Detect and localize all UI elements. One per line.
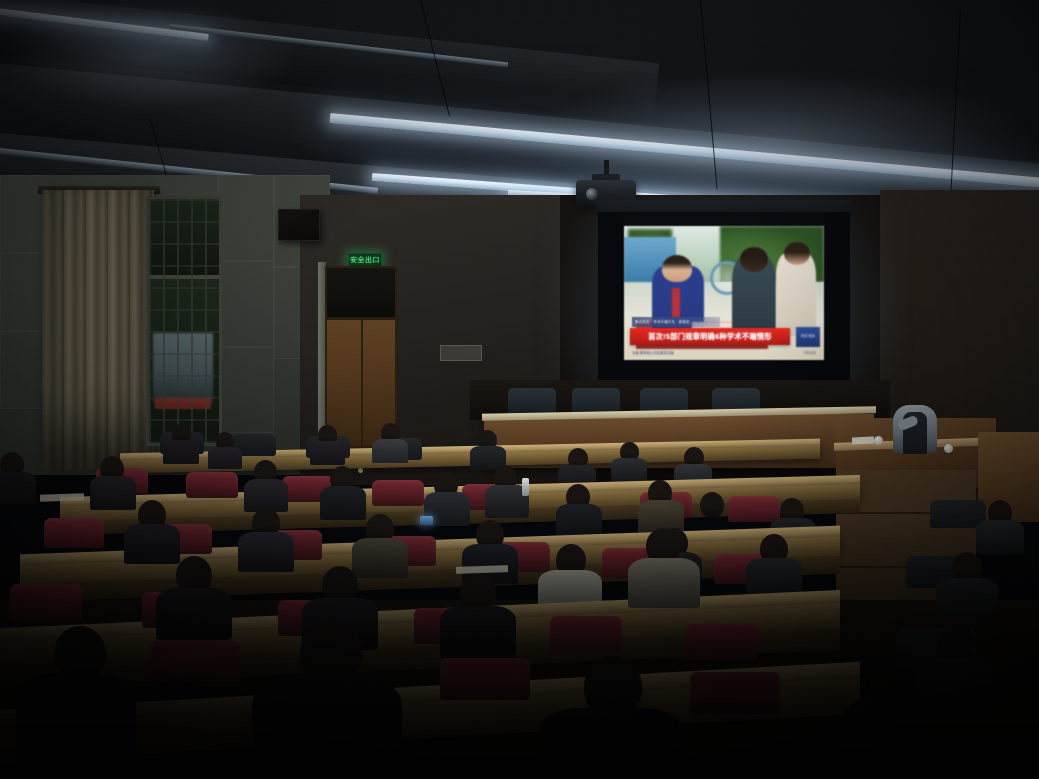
podium-papers	[852, 436, 874, 444]
seat[interactable]	[728, 496, 780, 522]
seat[interactable]	[690, 672, 780, 714]
water-bottle[interactable]	[522, 478, 529, 496]
broadcast-channel-logo: 新闻 频道	[796, 327, 820, 347]
broadcast-tag-3: 新规定	[679, 319, 690, 324]
seat[interactable]	[550, 616, 622, 652]
broadcast-lanyard	[672, 288, 680, 317]
broadcast-person-right	[776, 253, 816, 336]
door-transom-window	[327, 268, 395, 320]
broadcast-image: 焦点关注 学术不端行为 新规定 首次!5部门规章明确6种学术不端情形 新闻 频道…	[624, 226, 824, 360]
broadcast-ticker-left: 记者 教育部公开征集意见稿	[632, 350, 674, 355]
broadcast-person-right-head	[784, 242, 810, 265]
broadcast-ticker: 记者 教育部公开征集意见稿 7月24日	[630, 347, 818, 359]
window-curtain[interactable]	[42, 190, 154, 470]
broadcast-person-blue-shirt-head	[662, 255, 692, 282]
seat[interactable]	[372, 480, 424, 506]
phone-screen[interactable]	[420, 516, 433, 525]
seat[interactable]	[686, 624, 758, 660]
seat[interactable]	[440, 658, 530, 700]
broadcast-ticker-right: 7月24日	[804, 350, 816, 355]
broadcast-headline-banner: 首次!5部门规章明确6种学术不端情形	[630, 328, 790, 345]
broadcast-person-center-head	[740, 247, 768, 271]
wall-plaque	[440, 345, 482, 361]
podium-cup-1	[874, 436, 883, 445]
broadcast-subtitle-tags: 焦点关注 学术不端行为 新规定	[632, 317, 720, 326]
projector-lens-icon	[586, 188, 598, 200]
broadcast-channel-logo-text: 新闻 频道	[801, 335, 815, 339]
seat[interactable]	[186, 472, 238, 498]
window	[146, 196, 222, 446]
broadcast-tag-2: 学术不端行为	[653, 319, 675, 324]
seat[interactable]	[10, 584, 82, 620]
exit-door[interactable]	[325, 266, 397, 448]
lecture-hall-photo: 安全出口	[0, 0, 1039, 779]
podium-cup-2	[944, 444, 953, 453]
seat[interactable]	[44, 518, 104, 548]
wall-speaker	[278, 209, 320, 241]
door-center-split	[361, 320, 363, 446]
presenter-head	[902, 388, 924, 412]
exit-sign-label: 安全出口	[350, 255, 380, 265]
seat[interactable]	[150, 640, 240, 682]
broadcast-tag-1: 焦点关注	[635, 319, 649, 324]
window-security-bars	[149, 199, 219, 443]
projection-screen: 焦点关注 学术不端行为 新规定 首次!5部门规章明确6种学术不端情形 新闻 频道…	[598, 212, 850, 388]
screen-masking-top	[598, 212, 850, 226]
exit-sign: 安全出口	[348, 253, 382, 267]
broadcast-headline-text: 首次!5部门规章明确6种学术不端情形	[648, 332, 772, 342]
